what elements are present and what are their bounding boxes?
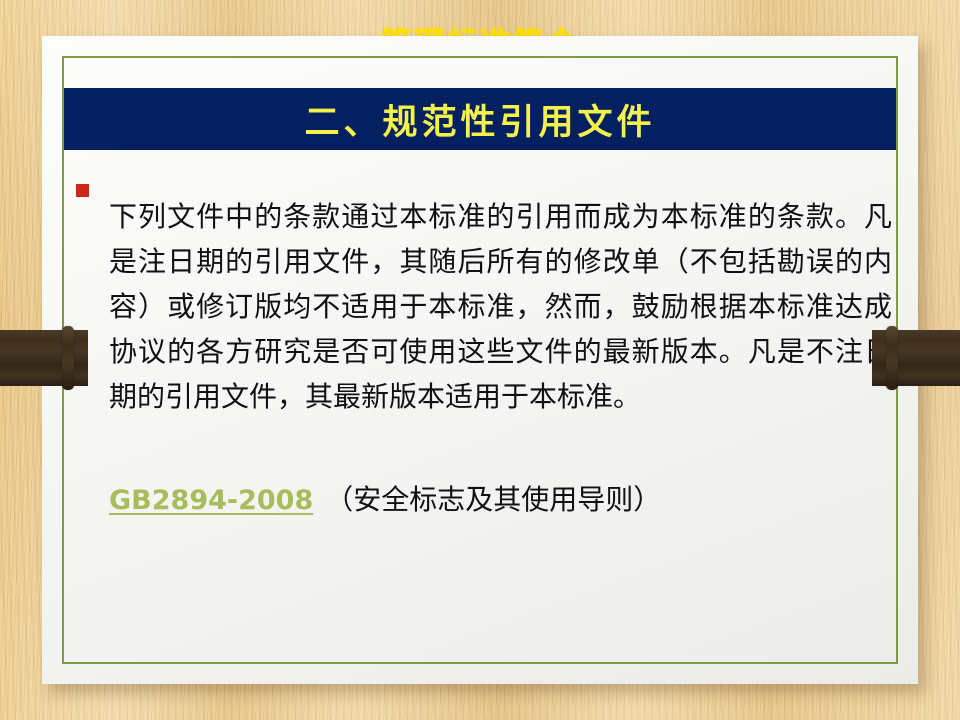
slide-title-text: 二、规范性引用文件 xyxy=(304,94,655,145)
bullet-paragraph-item: 下列文件中的条款通过本标准的引用而成为本标准的条款。凡是注日期的引用文件，其随后… xyxy=(76,166,892,447)
reference-line: GB2894-2008（安全标志及其使用导则） xyxy=(109,479,892,522)
square-bullet-icon xyxy=(76,184,89,197)
slide-stage: 管理标准简介 二、规范性引用文件 下列文件中的条款通过本标准的引用而成为本标准的… xyxy=(0,0,960,720)
reference-standard-link[interactable]: GB2894-2008 xyxy=(109,485,313,516)
slide-title-bar: 二、规范性引用文件 xyxy=(64,88,896,150)
mount-cap-right-icon xyxy=(886,326,898,390)
slide-card: 二、规范性引用文件 下列文件中的条款通过本标准的引用而成为本标准的条款。凡是注日… xyxy=(42,36,918,684)
reference-standard-title: （安全标志及其使用导则） xyxy=(325,483,661,516)
mount-bar-left xyxy=(0,330,88,386)
mount-cap-left-icon xyxy=(62,326,74,390)
body-paragraph: 下列文件中的条款通过本标准的引用而成为本标准的条款。凡是注日期的引用文件，其随后… xyxy=(109,194,892,419)
slide-body: 下列文件中的条款通过本标准的引用而成为本标准的条款。凡是注日期的引用文件，其随后… xyxy=(76,166,892,522)
